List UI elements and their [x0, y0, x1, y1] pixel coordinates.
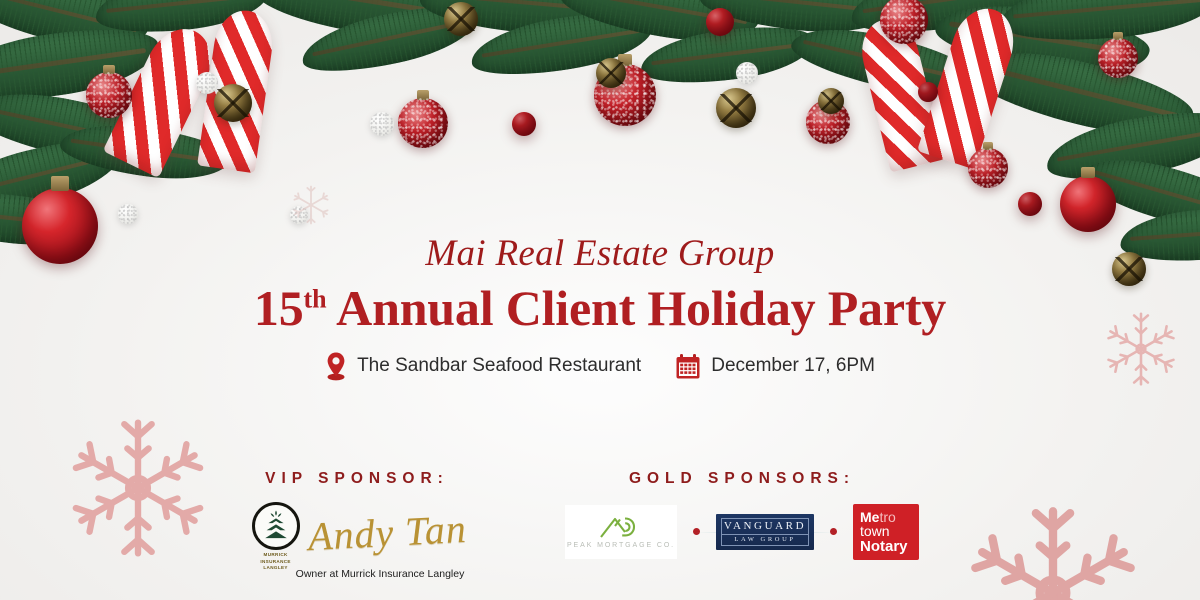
metrotown-notary-logo[interactable]: Metro town Notary	[853, 504, 919, 560]
red-ornament-ball	[512, 112, 536, 136]
metro-line2: town	[860, 524, 912, 538]
red-ornament-ball	[86, 72, 132, 118]
murrick-logo-line2: LANGLEY	[248, 565, 304, 572]
murrick-logo-mark	[252, 502, 300, 550]
andy-tan-signature: Andy Tan	[307, 509, 468, 557]
red-ornament-ball	[1098, 38, 1138, 78]
murrick-logo-text: MURRICK INSURANCE LANGLEY	[248, 552, 304, 572]
gold-jingle-bell	[716, 88, 756, 128]
pink-snowflake-icon	[288, 182, 334, 228]
headline-text: Annual Client Holiday Party	[336, 280, 946, 336]
page-title: 15th Annual Client Holiday Party	[0, 279, 1200, 337]
vanguard-logo-box: VANGUARD LAW GROUP	[716, 514, 814, 550]
gold-jingle-bell	[444, 2, 478, 36]
event-datetime: December 17, 6PM	[711, 355, 875, 377]
red-ornament-ball	[880, 0, 928, 44]
white-snowball	[196, 72, 218, 94]
calendar-icon	[675, 353, 701, 380]
vanguard-line2: LAW GROUP	[721, 535, 809, 546]
metro-line3: Notary	[860, 539, 912, 554]
venue-name: The Sandbar Seafood Restaurant	[357, 355, 641, 377]
vanguard-law-group-logo[interactable]: VANGUARD LAW GROUP	[716, 514, 814, 550]
peak-mortgage-wordmark: PEAK MORTGAGE CO.	[567, 542, 675, 549]
headline-ordinal-suffix: th	[304, 284, 327, 313]
organization-name: Mai Real Estate Group	[0, 232, 1200, 275]
location-pin-icon	[325, 351, 347, 381]
white-snowball	[370, 112, 394, 136]
red-ornament-ball	[706, 8, 734, 36]
event-copy-block: Mai Real Estate Group 15th Annual Client…	[0, 232, 1200, 381]
red-ornament-ball	[1060, 176, 1116, 232]
red-ornament-ball	[1018, 192, 1042, 216]
gold-sponsors-row: PEAK MORTGAGE CO. VANGUARD LAW GROUP Met…	[532, 504, 952, 560]
gold-jingle-bell	[818, 88, 844, 114]
peak-mortgage-logo[interactable]: PEAK MORTGAGE CO.	[565, 505, 677, 559]
white-snowball	[736, 62, 758, 84]
event-details-row: The Sandbar Seafood Restaurant	[0, 351, 1200, 381]
gold-sponsors-heading: GOLD SPONSORS:	[532, 470, 952, 488]
christmas-garland-decoration	[0, 0, 1200, 250]
vanguard-line1: VANGUARD	[721, 518, 809, 535]
red-ornament-ball	[968, 148, 1008, 188]
vip-sponsor-heading: VIP SPONSOR:	[192, 470, 522, 488]
white-snowball	[118, 204, 138, 224]
murrick-insurance-logo[interactable]: MURRICK INSURANCE LANGLEY	[248, 502, 304, 564]
murrick-logo-line1: MURRICK INSURANCE	[248, 552, 304, 565]
red-ornament-ball	[918, 82, 938, 102]
event-poster: Mai Real Estate Group 15th Annual Client…	[0, 0, 1200, 600]
metro-line1: Metro	[860, 510, 912, 524]
gold-sponsors-block: GOLD SPONSORS: PEAK MORTGAGE CO.	[532, 470, 952, 560]
gold-jingle-bell	[596, 58, 626, 88]
red-ornament-ball	[398, 98, 448, 148]
pink-snowflake-icon	[958, 498, 1148, 600]
headline-number: 15	[254, 280, 304, 336]
vip-sponsor-row: MURRICK INSURANCE LANGLEY Andy Tan	[192, 502, 522, 564]
vip-sponsor-block: VIP SPONSOR:	[192, 470, 522, 580]
vip-sponsor-subtitle: Owner at Murrick Insurance Langley	[192, 568, 522, 580]
gold-jingle-bell	[214, 84, 252, 122]
